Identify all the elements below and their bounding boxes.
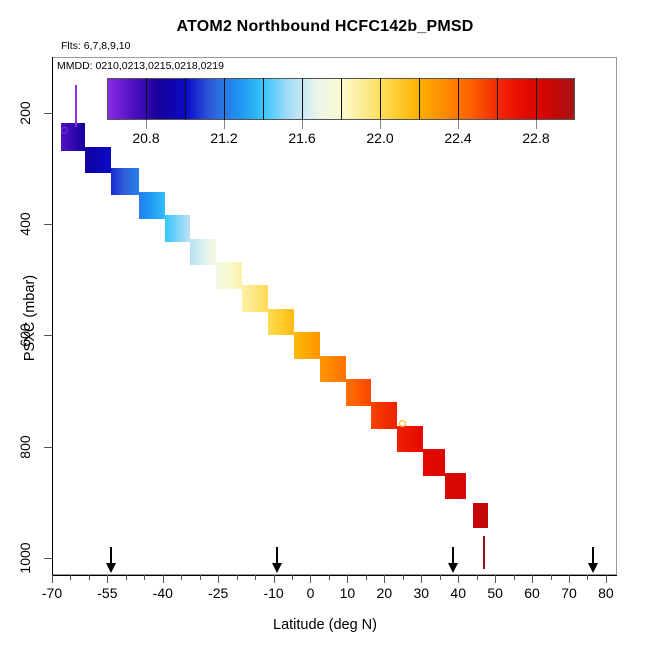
x-axis-minor-tick (255, 575, 256, 580)
data-block (320, 356, 346, 383)
data-block (423, 449, 445, 476)
colorbar-tick-label: 21.6 (267, 130, 337, 146)
x-axis-minor-tick (440, 575, 441, 580)
data-block (371, 402, 397, 429)
x-axis-title: Latitude (deg N) (0, 617, 650, 633)
x-axis-minor-tick (551, 575, 552, 580)
x-axis-tick (163, 575, 164, 583)
x-axis-tick (107, 575, 108, 583)
colorbar-tick-label: 22.0 (345, 130, 415, 146)
colorbar-tick-label: 21.2 (189, 130, 259, 146)
x-axis-tick (421, 575, 422, 583)
x-axis-tick (310, 575, 311, 583)
page-title: ATOM2 Northbound HCFC142b_PMSD (0, 18, 650, 36)
x-axis-tick (347, 575, 348, 583)
y-axis-tick-label: 200 (17, 96, 33, 130)
x-axis-minor-tick (89, 575, 90, 580)
x-axis-tick (458, 575, 459, 583)
colorbar-divider (263, 78, 264, 120)
data-block (268, 309, 294, 336)
flights-annotation: Flts: 6,7,8,9,10 (61, 40, 130, 52)
colorbar-tick (302, 120, 303, 129)
latitude-arrow-marker (447, 547, 459, 573)
data-block (85, 147, 111, 173)
x-axis-minor-tick (144, 575, 145, 580)
colorbar-tick (146, 120, 147, 129)
colorbar-divider (536, 78, 537, 120)
latitude-arrow-marker (105, 547, 117, 573)
colorbar-divider (146, 78, 147, 120)
y-axis-tick-label: 800 (17, 430, 33, 464)
colorbar-tick-label: 20.8 (111, 130, 181, 146)
x-axis-minor-tick (200, 575, 201, 580)
y-axis-tick-label: 1000 (17, 541, 33, 575)
y-axis-tick (44, 224, 52, 225)
x-axis-tick (384, 575, 385, 583)
colorbar-divider (458, 78, 459, 120)
y-axis-tick (44, 335, 52, 336)
x-axis-minor-tick (329, 575, 330, 580)
x-axis-tick (606, 575, 607, 583)
x-axis-minor-tick (181, 575, 182, 580)
data-block (294, 332, 320, 359)
x-axis-tick-label: 80 (576, 585, 636, 601)
data-block (242, 285, 268, 312)
x-axis-minor-tick (366, 575, 367, 580)
mmdd-annotation: MMDD: 0210,0213,0215,0218,0219 (57, 60, 224, 72)
x-axis-tick-label: -55 (77, 585, 137, 601)
x-axis-minor-tick (514, 575, 515, 580)
y-axis-title: PSXC (mbar) (22, 228, 38, 408)
x-axis-tick-label: -25 (188, 585, 248, 601)
x-axis-minor-tick (70, 575, 71, 580)
x-axis-tick-label: -40 (133, 585, 193, 601)
x-axis-minor-tick (477, 575, 478, 580)
data-block (111, 168, 139, 195)
x-axis-tick (569, 575, 570, 583)
x-axis-tick (495, 575, 496, 583)
x-axis-tick-label: -70 (22, 585, 82, 601)
x-axis-tick (218, 575, 219, 583)
y-axis-tick (44, 558, 52, 559)
colorbar-divider (185, 78, 186, 120)
latitude-arrow-marker (587, 547, 599, 573)
y-axis-tick (44, 447, 52, 448)
x-axis-minor-tick (126, 575, 127, 580)
data-block (445, 473, 465, 500)
colorbar-divider (302, 78, 303, 120)
colorbar-tick-label: 22.4 (423, 130, 493, 146)
colorbar-tick (380, 120, 381, 129)
error-bar (75, 85, 77, 127)
x-axis-tick (274, 575, 275, 583)
x-axis-minor-tick (403, 575, 404, 580)
x-axis-minor-tick (587, 575, 588, 580)
y-axis-line (52, 57, 53, 576)
data-block (397, 426, 423, 453)
colorbar-divider (224, 78, 225, 120)
x-axis-minor-tick (292, 575, 293, 580)
x-axis-minor-tick (237, 575, 238, 580)
x-axis-tick (532, 575, 533, 583)
colorbar-tick (224, 120, 225, 129)
colorbar-divider (380, 78, 381, 120)
data-block (139, 192, 165, 219)
colorbar-divider (341, 78, 342, 120)
colorbar-divider (419, 78, 420, 120)
y-axis-tick (44, 113, 52, 114)
data-block (346, 379, 372, 406)
data-block (165, 215, 191, 242)
latitude-arrow-marker (271, 547, 283, 573)
colorbar-divider (497, 78, 498, 120)
colorbar[interactable]: 20.821.221.622.022.422.8 (107, 78, 575, 120)
data-block (216, 262, 242, 289)
data-block (190, 239, 216, 266)
colorbar-tick (458, 120, 459, 129)
error-bar (483, 536, 485, 569)
colorbar-tick (536, 120, 537, 129)
data-block (473, 503, 488, 528)
colorbar-tick-label: 22.8 (501, 130, 571, 146)
x-axis-tick (52, 575, 53, 583)
